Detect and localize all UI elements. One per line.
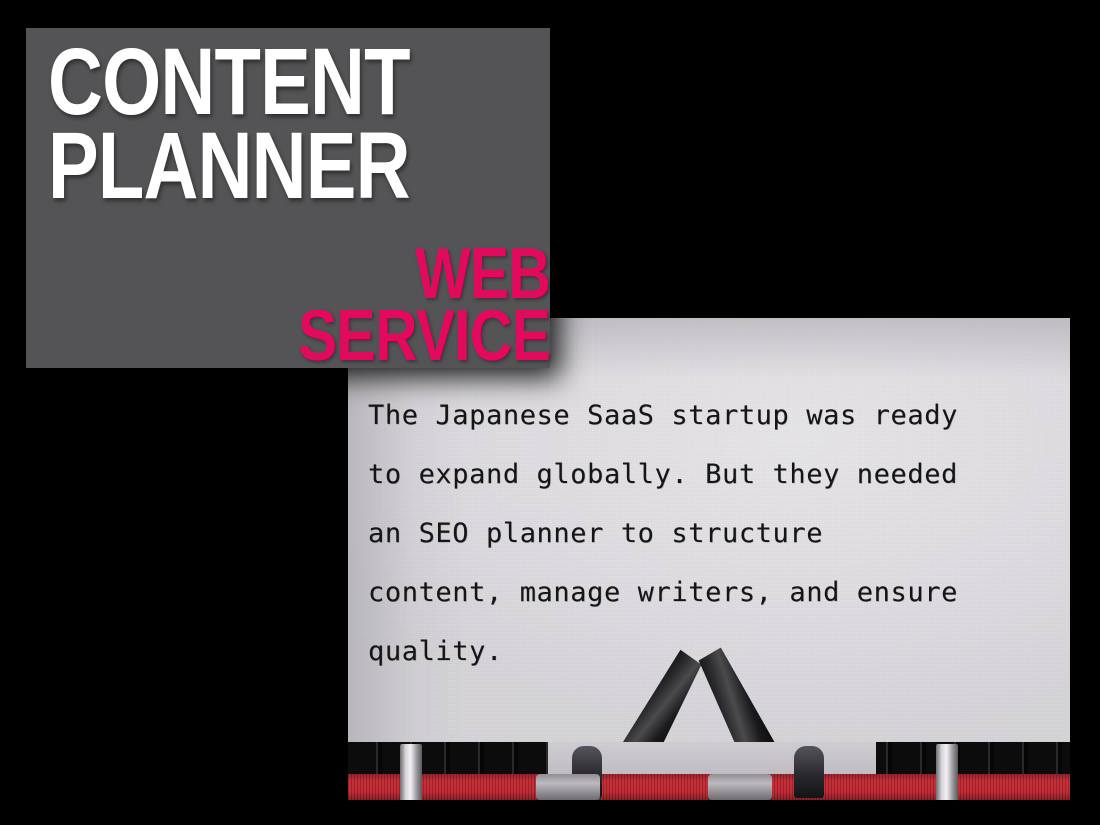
title-line-2: PLANNER	[48, 124, 552, 208]
title-line-1: CONTENT	[48, 40, 552, 124]
typebar-rest-row	[348, 742, 1070, 778]
ribbon-guide-right	[936, 744, 958, 800]
ribbon-guide-left	[400, 744, 422, 800]
subtitle-heading: WEB SERVICE	[10, 243, 550, 367]
typed-paragraph: The Japanese SaaS startup was ready to e…	[368, 386, 1058, 681]
typewriter-mechanism	[348, 708, 1070, 800]
typewriter-photo-panel: The Japanese SaaS startup was ready to e…	[348, 318, 1070, 800]
ribbon-spool-knob-right	[708, 774, 772, 800]
hammer-stub-right	[794, 746, 824, 798]
subtitle-line-2: SERVICE	[107, 305, 550, 367]
title-card: CONTENT PLANNER WEB SERVICE	[26, 28, 550, 368]
title-heading: CONTENT PLANNER	[48, 40, 678, 208]
slide-canvas: The Japanese SaaS startup was ready to e…	[0, 0, 1100, 825]
ribbon-spool-knob-left	[536, 774, 600, 800]
